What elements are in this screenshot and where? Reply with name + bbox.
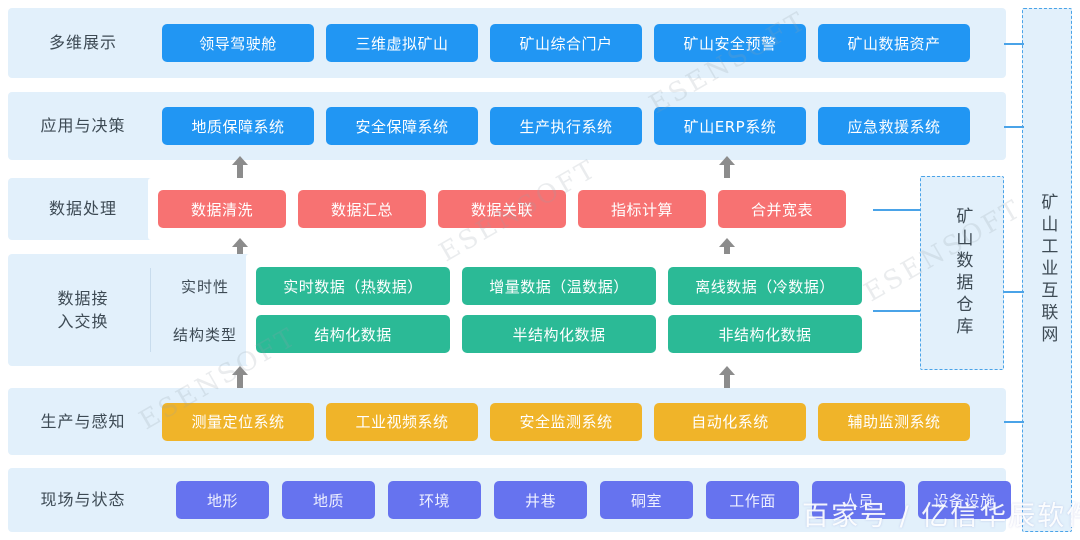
side-panel-industrial-internet-label: 矿山工业互联网 bbox=[1038, 193, 1057, 347]
chip-row-display: 领导驾驶舱 三维虚拟矿山 矿山综合门户 矿山安全预警 矿山数据资产 bbox=[162, 8, 970, 78]
connector-warehouse-to-internet bbox=[1004, 291, 1024, 293]
chip-field-2[interactable]: 环境 bbox=[388, 481, 481, 519]
chip-processing-2[interactable]: 数据关联 bbox=[438, 190, 566, 228]
row-band-display: 多维展示 领导驾驶舱 三维虚拟矿山 矿山综合门户 矿山安全预警 矿山数据资产 bbox=[8, 8, 1006, 78]
chip-processing-4[interactable]: 合并宽表 bbox=[718, 190, 846, 228]
row-label-application: 应用与决策 bbox=[8, 92, 158, 160]
row-label-text: 应用与决策 bbox=[40, 114, 125, 137]
access-sublabel-structure: 结构类型 bbox=[160, 313, 250, 355]
sub-label-text: 结构类型 bbox=[173, 324, 237, 345]
architecture-diagram: 多维展示 领导驾驶舱 三维虚拟矿山 矿山综合门户 矿山安全预警 矿山数据资产 应… bbox=[0, 0, 1080, 540]
chip-processing-3[interactable]: 指标计算 bbox=[578, 190, 706, 228]
chip-field-1[interactable]: 地质 bbox=[282, 481, 375, 519]
connector-production-to-internet bbox=[1004, 421, 1024, 423]
row-label-text: 数据处理 bbox=[49, 197, 117, 220]
connector-access-to-warehouse bbox=[873, 310, 921, 312]
chip-production-3[interactable]: 自动化系统 bbox=[654, 403, 806, 441]
chip-row-field: 地形 地质 环境 井巷 硐室 工作面 人员 设备设施 bbox=[176, 468, 1011, 532]
chip-access-structure-1[interactable]: 半结构化数据 bbox=[462, 315, 656, 353]
row-label-text-line1: 数据接 bbox=[57, 287, 108, 310]
row-label-text: 生产与感知 bbox=[40, 410, 125, 433]
chip-access-realtime-2[interactable]: 离线数据（冷数据） bbox=[668, 267, 862, 305]
chip-row-access-realtime: 实时数据（热数据） 增量数据（温数据） 离线数据（冷数据） bbox=[256, 265, 862, 307]
connector-display-to-internet bbox=[1004, 43, 1024, 45]
chip-access-structure-0[interactable]: 结构化数据 bbox=[256, 315, 450, 353]
row-label-text: 多维展示 bbox=[49, 31, 117, 54]
arrow-head bbox=[719, 366, 735, 375]
arrow-head bbox=[719, 238, 735, 247]
row-label-text-line2: 入交换 bbox=[57, 310, 108, 333]
chip-field-6[interactable]: 人员 bbox=[812, 481, 905, 519]
chip-application-2[interactable]: 生产执行系统 bbox=[490, 107, 642, 145]
arrow-head bbox=[232, 238, 248, 247]
access-sublabel-realtime: 实时性 bbox=[166, 265, 244, 307]
chip-application-0[interactable]: 地质保障系统 bbox=[162, 107, 314, 145]
connector-application-to-internet bbox=[1004, 126, 1024, 128]
chip-display-4[interactable]: 矿山数据资产 bbox=[818, 24, 970, 62]
chip-display-2[interactable]: 矿山综合门户 bbox=[490, 24, 642, 62]
arrow-head bbox=[232, 156, 248, 165]
row-label-text: 现场与状态 bbox=[40, 488, 125, 511]
chip-production-1[interactable]: 工业视频系统 bbox=[326, 403, 478, 441]
chip-field-5[interactable]: 工作面 bbox=[706, 481, 799, 519]
chip-field-4[interactable]: 硐室 bbox=[600, 481, 693, 519]
chip-application-3[interactable]: 矿山ERP系统 bbox=[654, 107, 806, 145]
chip-row-access-structure: 结构化数据 半结构化数据 非结构化数据 bbox=[256, 313, 862, 355]
sub-label-text: 实时性 bbox=[181, 276, 229, 297]
chip-production-2[interactable]: 安全监测系统 bbox=[490, 403, 642, 441]
chip-production-0[interactable]: 测量定位系统 bbox=[162, 403, 314, 441]
chip-application-4[interactable]: 应急救援系统 bbox=[818, 107, 970, 145]
side-panel-data-warehouse-label: 矿山数据仓库 bbox=[953, 207, 972, 339]
connector-processing-to-warehouse bbox=[873, 209, 921, 211]
chip-field-3[interactable]: 井巷 bbox=[494, 481, 587, 519]
flow-arrow-access-to-application-right bbox=[719, 156, 735, 178]
arrow-head bbox=[232, 366, 248, 375]
chip-row-processing: 数据清洗 数据汇总 数据关联 指标计算 合并宽表 bbox=[158, 178, 846, 240]
side-panel-industrial-internet: 矿山工业互联网 bbox=[1022, 8, 1072, 532]
chip-processing-0[interactable]: 数据清洗 bbox=[158, 190, 286, 228]
chip-processing-1[interactable]: 数据汇总 bbox=[298, 190, 426, 228]
row-label-display: 多维展示 bbox=[8, 8, 158, 78]
chip-display-3[interactable]: 矿山安全预警 bbox=[654, 24, 806, 62]
chip-access-realtime-1[interactable]: 增量数据（温数据） bbox=[462, 267, 656, 305]
chip-field-7[interactable]: 设备设施 bbox=[918, 481, 1011, 519]
row-label-processing: 数据处理 bbox=[8, 178, 158, 240]
row-band-production: 生产与感知 测量定位系统 工业视频系统 安全监测系统 自动化系统 辅助监测系统 bbox=[8, 388, 1006, 455]
row-band-field: 现场与状态 地形 地质 环境 井巷 硐室 工作面 人员 设备设施 bbox=[8, 468, 1006, 532]
chip-field-0[interactable]: 地形 bbox=[176, 481, 269, 519]
row-label-access: 数据接 入交换 bbox=[8, 254, 158, 366]
flow-arrow-production-to-access-right bbox=[719, 366, 735, 390]
chip-production-4[interactable]: 辅助监测系统 bbox=[818, 403, 970, 441]
chip-access-structure-2[interactable]: 非结构化数据 bbox=[668, 315, 862, 353]
row-label-production: 生产与感知 bbox=[8, 388, 158, 455]
row-label-field: 现场与状态 bbox=[8, 468, 158, 532]
chip-application-1[interactable]: 安全保障系统 bbox=[326, 107, 478, 145]
chip-row-production: 测量定位系统 工业视频系统 安全监测系统 自动化系统 辅助监测系统 bbox=[162, 388, 970, 455]
chip-display-0[interactable]: 领导驾驶舱 bbox=[162, 24, 314, 62]
chip-display-1[interactable]: 三维虚拟矿山 bbox=[326, 24, 478, 62]
side-panel-data-warehouse: 矿山数据仓库 bbox=[920, 176, 1004, 370]
flow-arrow-production-to-access-left bbox=[232, 366, 248, 390]
chip-access-realtime-0[interactable]: 实时数据（热数据） bbox=[256, 267, 450, 305]
chip-row-application: 地质保障系统 安全保障系统 生产执行系统 矿山ERP系统 应急救援系统 bbox=[162, 92, 970, 160]
arrow-head bbox=[719, 156, 735, 165]
flow-arrow-access-to-application-left bbox=[232, 156, 248, 178]
row-band-application: 应用与决策 地质保障系统 安全保障系统 生产执行系统 矿山ERP系统 应急救援系… bbox=[8, 92, 1006, 160]
access-band-divider bbox=[150, 268, 151, 352]
